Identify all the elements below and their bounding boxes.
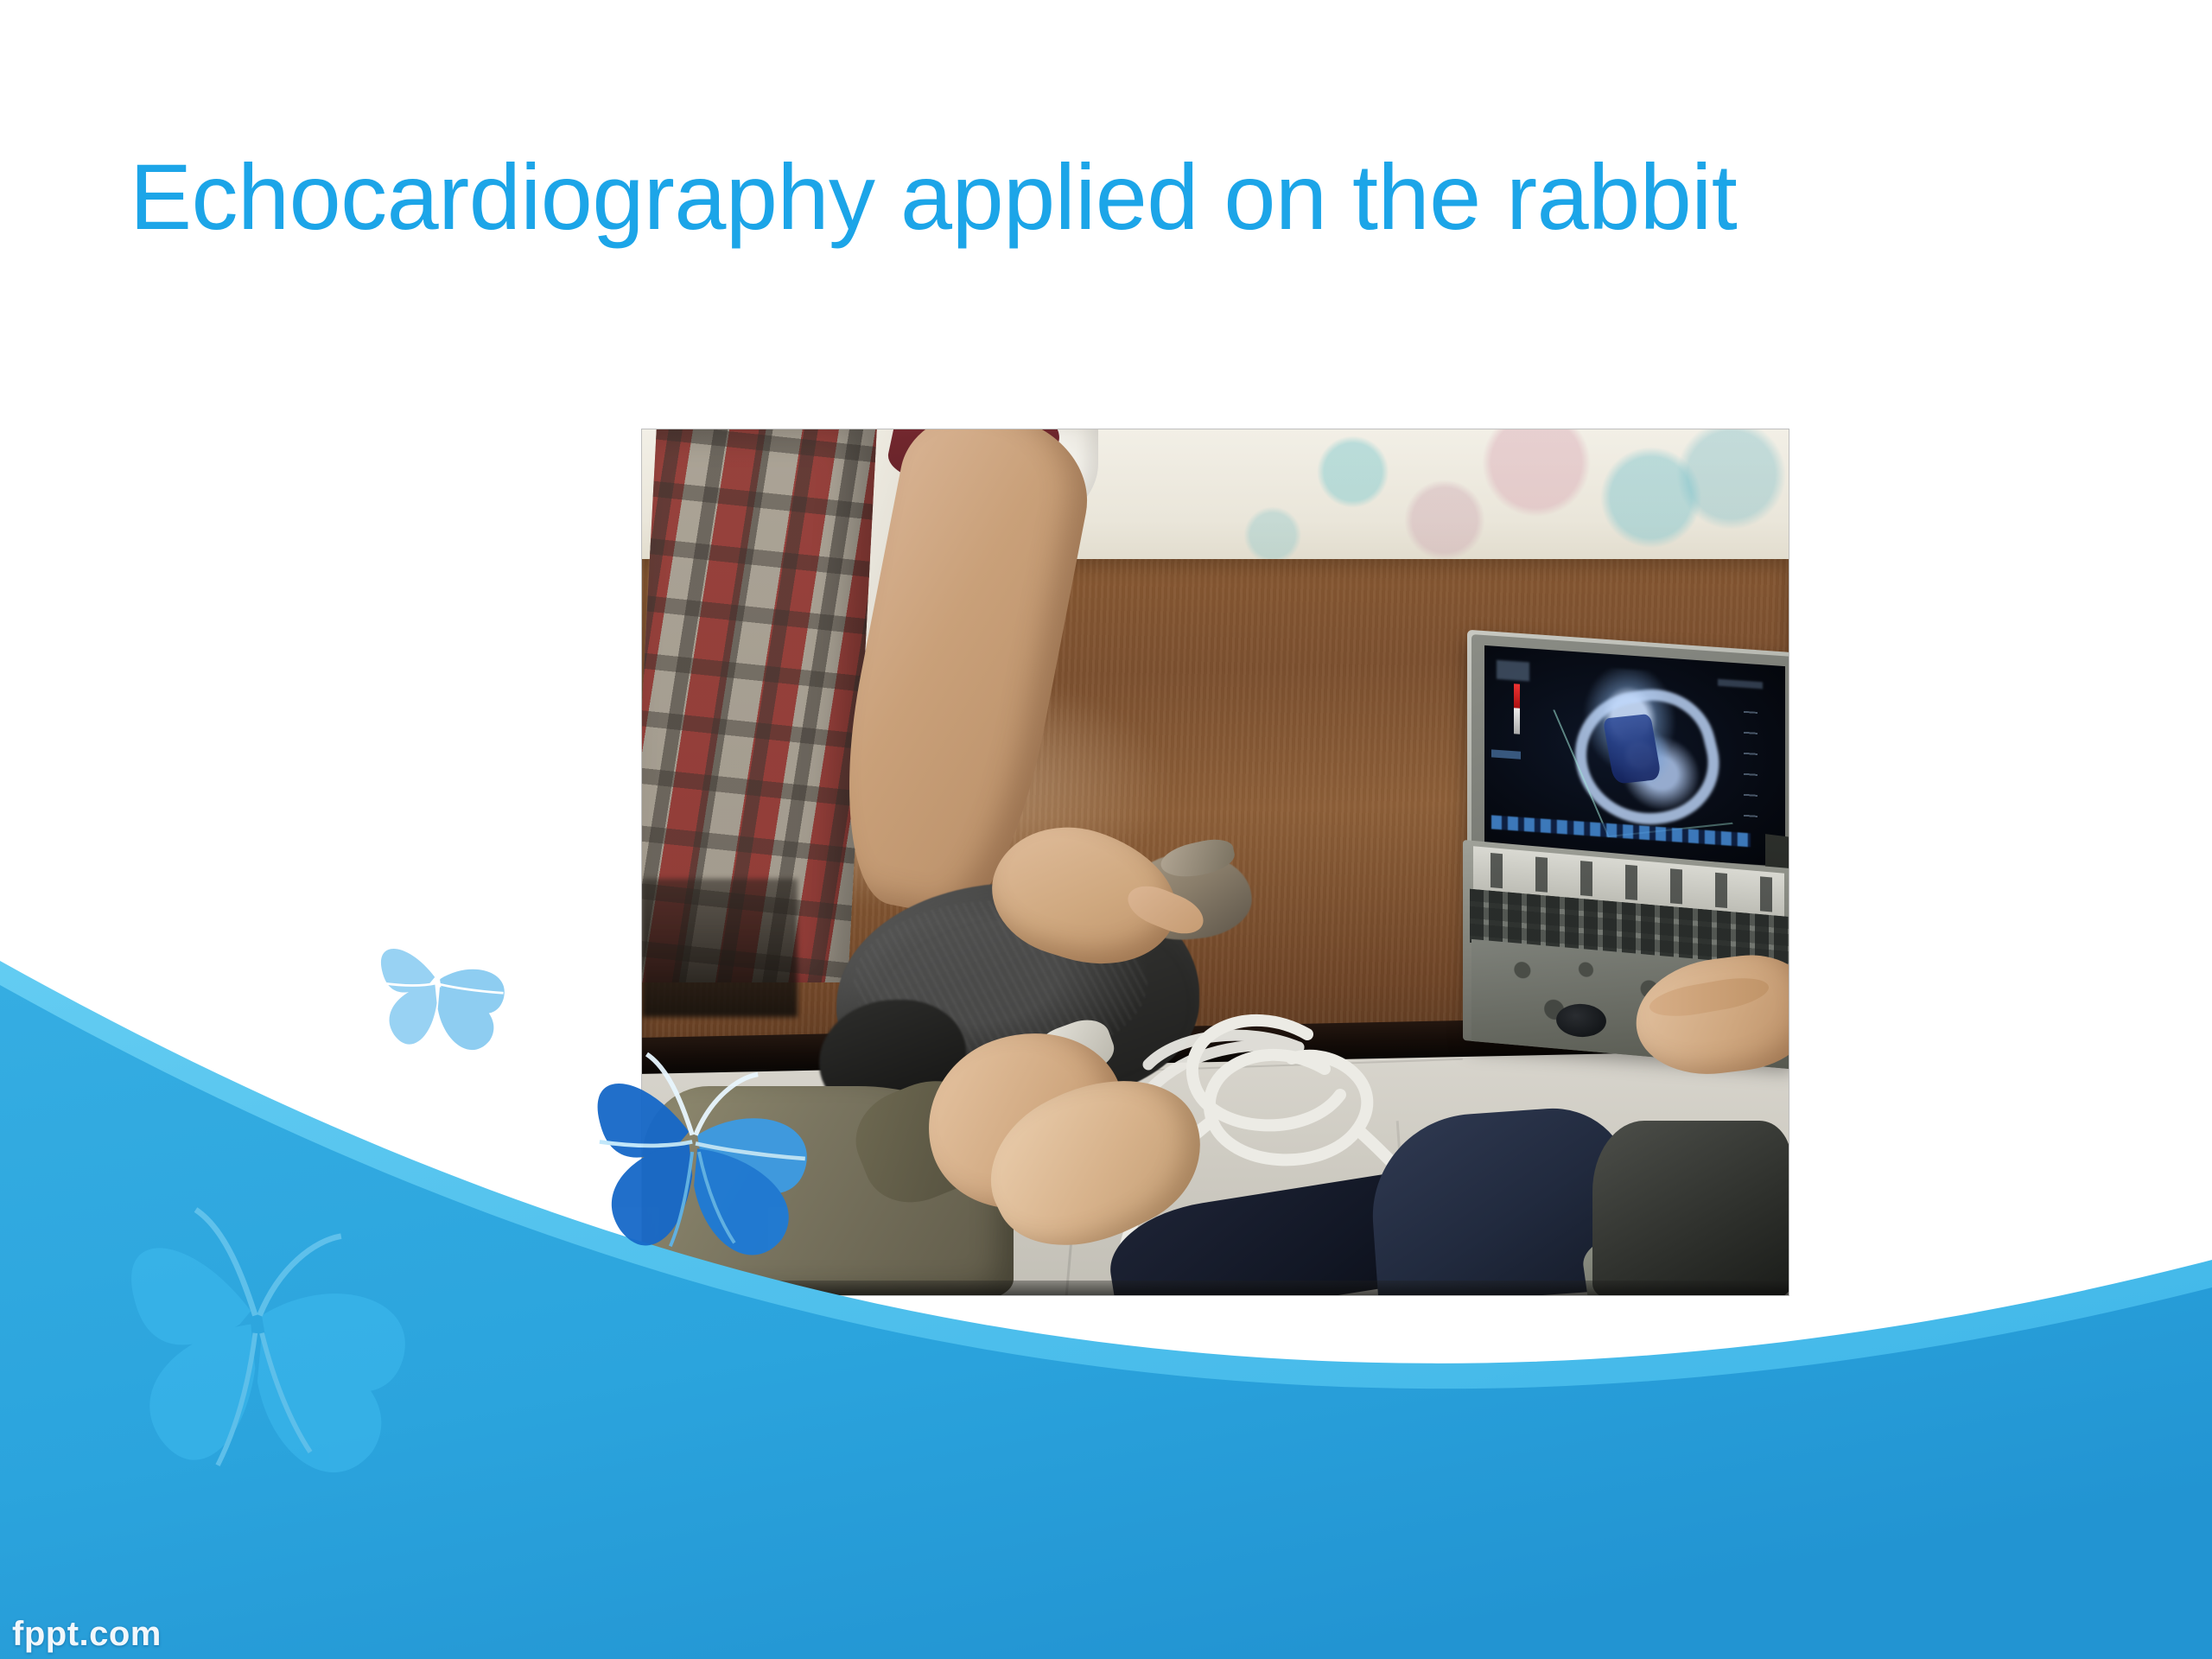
butterfly-far-right-icon <box>2101 1173 2212 1266</box>
screen-label <box>1497 660 1529 682</box>
screen-indicator <box>1491 749 1521 759</box>
butterfly-small-upper-left-icon <box>381 931 505 1050</box>
butterfly-accent-center-icon <box>598 1054 807 1255</box>
decorative-wave-footer <box>0 916 2212 1659</box>
depth-ticks <box>1744 711 1758 824</box>
presentation-slide: Echocardiography applied on the rabbit <box>0 0 2212 1659</box>
depth-scale-marker <box>1514 683 1520 708</box>
ultrasound-screen <box>1484 645 1785 867</box>
gain-scale-marker <box>1514 708 1520 734</box>
page-title: Echocardiography applied on the rabbit <box>130 145 1944 250</box>
fppt-watermark: fppt.com <box>12 1615 162 1654</box>
butterfly-right-icon <box>1936 1089 2070 1217</box>
